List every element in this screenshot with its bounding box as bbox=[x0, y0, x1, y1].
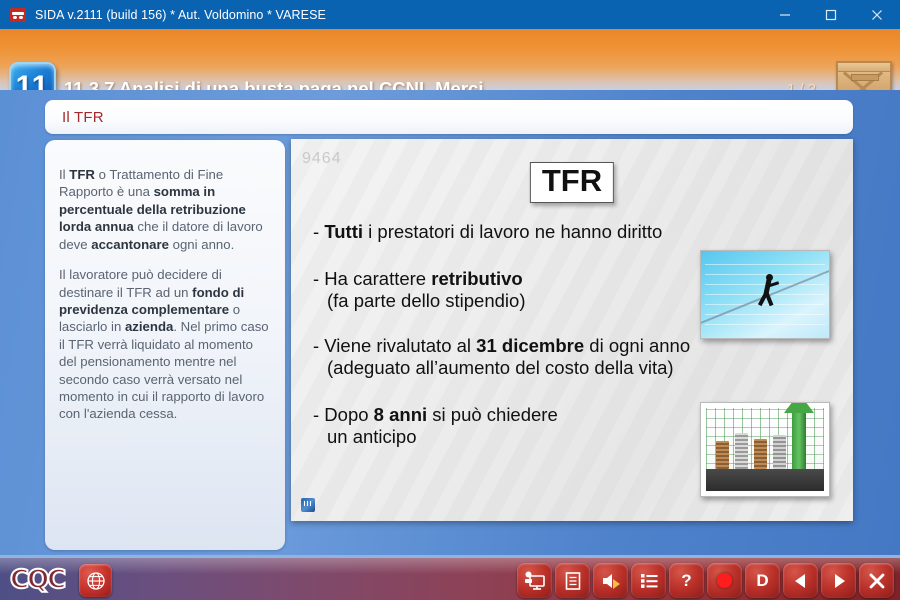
explanation-panel: Il TFR o Trattamento di Fine Rapporto è … bbox=[45, 140, 285, 550]
globe-icon[interactable] bbox=[79, 564, 112, 597]
toolbar-buttons: ? D bbox=[517, 563, 894, 598]
explanation-paragraph-1: Il TFR o Trattamento di Fine Rapporto è … bbox=[59, 166, 271, 253]
slide-watermark: 9464 bbox=[302, 150, 342, 168]
flag-icon bbox=[301, 498, 315, 512]
crate-icon bbox=[836, 61, 892, 90]
bullet-main: - Ha carattere retributivo bbox=[313, 268, 523, 289]
window-controls bbox=[762, 0, 900, 29]
demo-label: D bbox=[756, 572, 768, 589]
chapter-number: 11 bbox=[16, 72, 50, 90]
skier-on-rising-line-image bbox=[700, 250, 830, 339]
coin-stacks-green-arrow-image bbox=[700, 402, 830, 497]
chapter-badge: 11 bbox=[9, 62, 56, 90]
window-title-bar: SIDA v.2111 (build 156) * Aut. Voldomino… bbox=[0, 0, 900, 29]
demo-icon[interactable]: D bbox=[745, 563, 780, 598]
application-window: SIDA v.2111 (build 156) * Aut. Voldomino… bbox=[0, 0, 900, 600]
minimize-icon[interactable] bbox=[762, 0, 808, 29]
bullet-sub: (adeguato all’aumento del costo della vi… bbox=[313, 357, 833, 380]
window-title: SIDA v.2111 (build 156) * Aut. Voldomino… bbox=[35, 8, 326, 22]
list-item: - Viene rivalutato al 31 dicembre di ogn… bbox=[313, 335, 833, 380]
list-item: - Tutti i prestatori di lavoro ne hanno … bbox=[313, 221, 833, 244]
page-title: 11.3.7 Analisi di una busta paga nel CCN… bbox=[64, 78, 483, 90]
next-icon[interactable] bbox=[821, 563, 856, 598]
previous-icon[interactable] bbox=[783, 563, 818, 598]
explanation-paragraph-2: Il lavoratore può decidere di destinare … bbox=[59, 266, 271, 423]
maximize-icon[interactable] bbox=[808, 0, 854, 29]
bottom-toolbar: CQC bbox=[0, 555, 900, 600]
close-icon[interactable] bbox=[859, 563, 894, 598]
bullet-main: - Tutti i prestatori di lavoro ne hanno … bbox=[313, 221, 662, 242]
document-icon[interactable] bbox=[555, 563, 590, 598]
bullet-main: - Viene rivalutato al 31 dicembre di ogn… bbox=[313, 335, 690, 356]
help-icon[interactable]: ? bbox=[669, 563, 704, 598]
slide-content: 9464 TFR - Tutti i prestatori di lavoro … bbox=[291, 139, 853, 521]
section-title-bar: Il TFR bbox=[45, 100, 853, 134]
app-icon bbox=[10, 8, 26, 22]
lesson-header: 11 11.3.7 Analisi di una busta paga nel … bbox=[0, 29, 900, 90]
cqc-logo: CQC bbox=[10, 565, 64, 595]
record-icon[interactable] bbox=[707, 563, 742, 598]
help-label: ? bbox=[681, 572, 691, 589]
list-icon[interactable] bbox=[631, 563, 666, 598]
screen-share-icon[interactable] bbox=[517, 563, 552, 598]
page-indicator: 1 / 2 bbox=[787, 81, 816, 90]
bullet-main: - Dopo 8 anni si può chiedere bbox=[313, 404, 558, 425]
slide-heading: TFR bbox=[530, 162, 614, 203]
close-icon[interactable] bbox=[854, 0, 900, 29]
section-title-label: Il TFR bbox=[62, 109, 104, 126]
audio-play-icon[interactable] bbox=[593, 563, 628, 598]
